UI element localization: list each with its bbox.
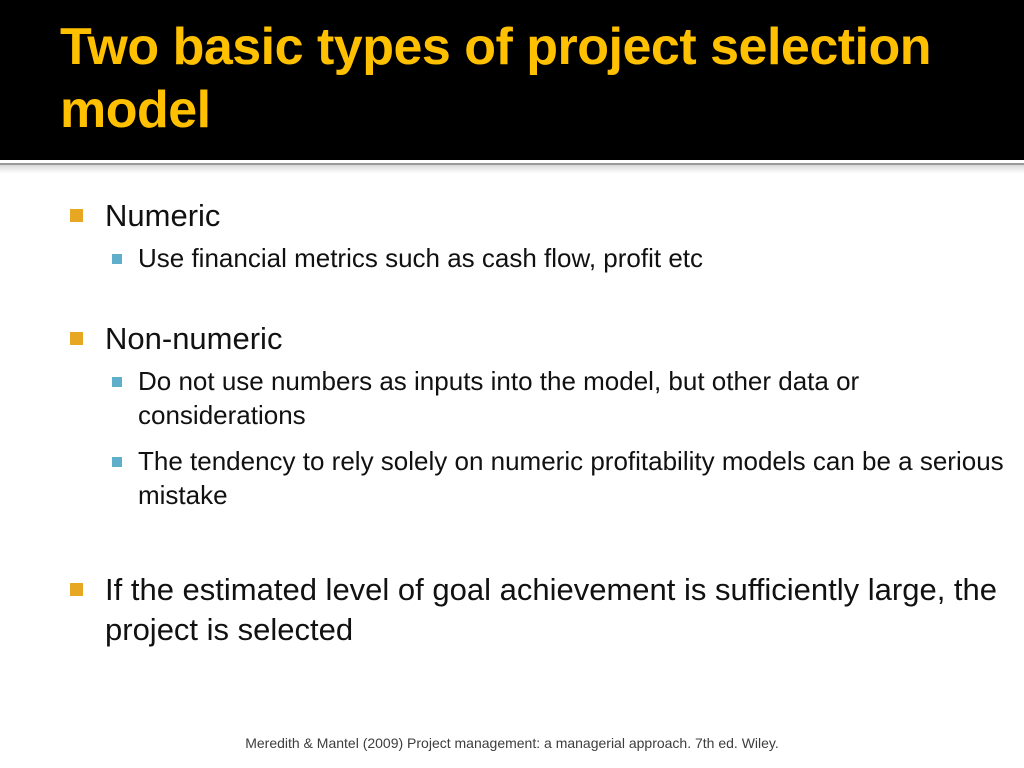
spacer [0, 512, 1024, 570]
square-bullet-icon [70, 583, 83, 596]
bullet-label: Non-numeric [105, 321, 282, 356]
bullet-item-numeric: Numeric [0, 196, 1024, 236]
sub-bullet-label: The tendency to rely solely on numeric p… [138, 446, 1004, 510]
slide-body: Numeric Use financial metrics such as ca… [0, 196, 1024, 726]
divider-shadow [0, 165, 1024, 174]
slide-canvas: Two basic types of project selection mod… [0, 0, 1024, 768]
slide-title: Two basic types of project selection mod… [60, 16, 964, 143]
title-banner: Two basic types of project selection mod… [0, 0, 1024, 160]
square-bullet-icon [70, 332, 83, 345]
footer-citation: Meredith & Mantel (2009) Project managem… [0, 735, 1024, 752]
sub-bullet-label: Do not use numbers as inputs into the mo… [138, 366, 859, 430]
bullet-item-goal-achievement: If the estimated level of goal achieveme… [0, 570, 1024, 649]
small-square-bullet-icon [112, 254, 122, 264]
sub-bullet-item: Do not use numbers as inputs into the mo… [105, 365, 1024, 433]
sub-bullet-item: Use financial metrics such as cash flow,… [105, 242, 1024, 276]
small-square-bullet-icon [112, 377, 122, 387]
bullet-label: Numeric [105, 198, 220, 233]
sub-bullet-item: The tendency to rely solely on numeric p… [105, 445, 1024, 513]
bullet-list-level2: Use financial metrics such as cash flow,… [105, 242, 1024, 276]
small-square-bullet-icon [112, 457, 122, 467]
bullet-list-level2: Do not use numbers as inputs into the mo… [105, 365, 1024, 512]
banner-divider [0, 160, 1024, 174]
sublist-wrapper-numeric: Use financial metrics such as cash flow,… [0, 242, 1024, 276]
bullet-label: If the estimated level of goal achieveme… [105, 572, 997, 647]
sublist-wrapper-non-numeric: Do not use numbers as inputs into the mo… [0, 365, 1024, 512]
bullet-item-non-numeric: Non-numeric [0, 319, 1024, 359]
spacer [0, 275, 1024, 319]
square-bullet-icon [70, 209, 83, 222]
sub-bullet-label: Use financial metrics such as cash flow,… [138, 243, 703, 273]
bullet-list-level1: Numeric Use financial metrics such as ca… [0, 196, 1024, 650]
